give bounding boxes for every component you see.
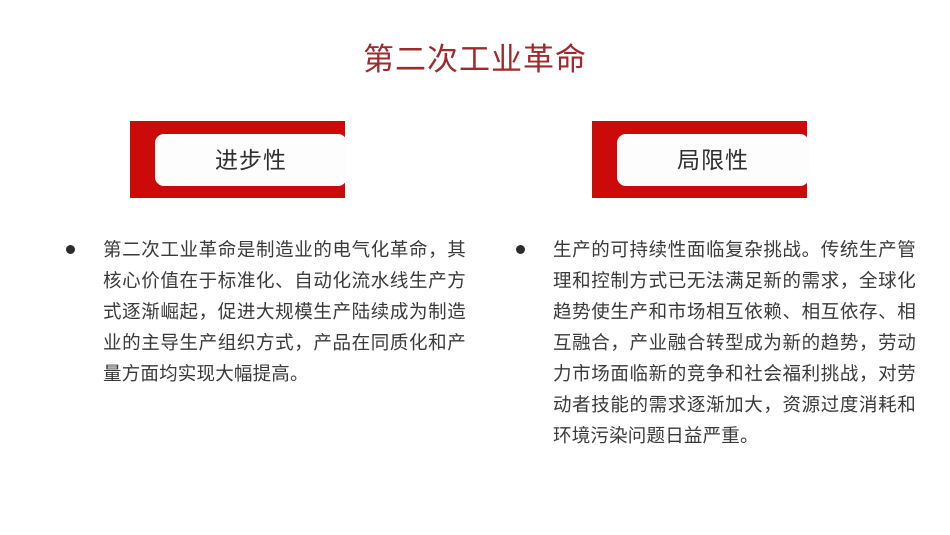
page-title: 第二次工业革命 xyxy=(0,38,950,82)
badge-frame-advantages: 进步性 xyxy=(130,121,345,198)
badge-inner-limitations: 局限性 xyxy=(617,134,809,186)
body-text-advantages: 第二次工业革命是制造业的电气化革命，其核心价值在于标准化、自动化流水线生产方式逐… xyxy=(103,234,466,389)
badge-inner-advantages: 进步性 xyxy=(155,134,347,186)
badge-label-limitations: 局限性 xyxy=(677,146,749,174)
filled-circle-bullet-icon xyxy=(516,245,525,254)
bullet-block-advantages: 第二次工业革命是制造业的电气化革命，其核心价值在于标准化、自动化流水线生产方式逐… xyxy=(66,234,466,389)
badge-frame-limitations: 局限性 xyxy=(592,121,807,198)
body-text-limitations: 生产的可持续性面临复杂挑战。传统生产管理和控制方式已无法满足新的需求，全球化趋势… xyxy=(553,234,916,451)
bullet-block-limitations: 生产的可持续性面临复杂挑战。传统生产管理和控制方式已无法满足新的需求，全球化趋势… xyxy=(516,234,916,451)
badge-label-advantages: 进步性 xyxy=(215,146,287,174)
filled-circle-bullet-icon xyxy=(66,245,75,254)
slide-canvas: 第二次工业革命 进步性 局限性 第二次工业革命是制造业的电气化革命，其核心价值在… xyxy=(0,0,950,535)
